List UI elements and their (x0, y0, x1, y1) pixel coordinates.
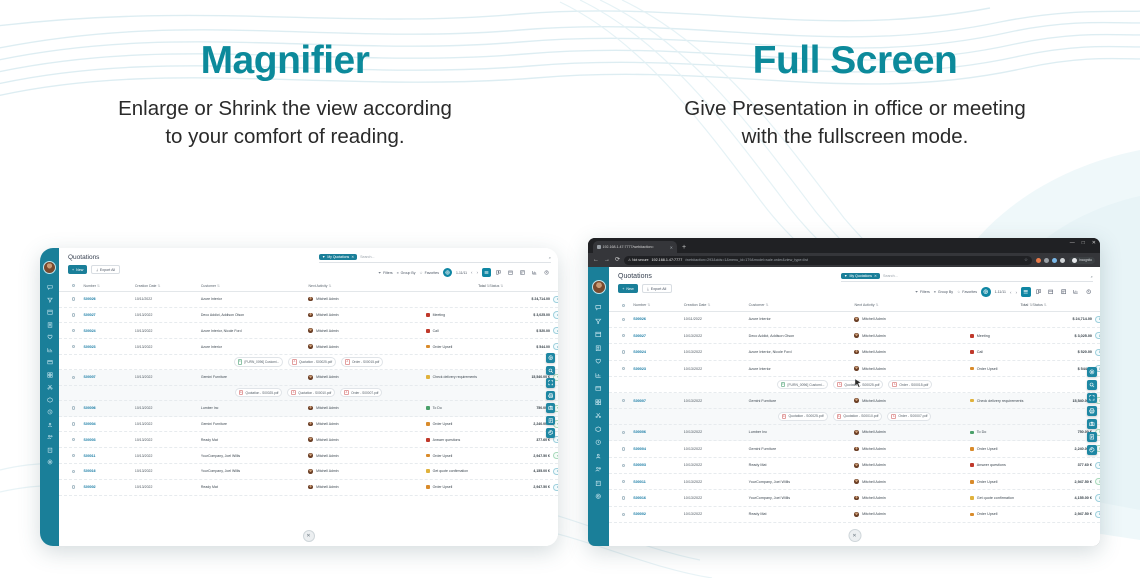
row-checkbox[interactable] (614, 513, 633, 516)
extension-orange-icon[interactable] (1036, 258, 1041, 263)
sidebar-item-settings-icon[interactable] (595, 493, 602, 501)
favorites-dropdown[interactable]: ☆ Favorites (419, 271, 439, 275)
column-header-total[interactable]: Total ⇅ (426, 284, 490, 288)
sidebar-item-messages-icon[interactable] (595, 304, 602, 312)
row-number[interactable]: S00007 (84, 375, 135, 379)
activity-view-button[interactable] (542, 268, 551, 277)
row-status: Quotation (553, 327, 558, 334)
sidebar-icon-list-browser[interactable] (595, 304, 602, 501)
checkbox-icon[interactable] (622, 334, 625, 337)
row-number[interactable]: S00002 (633, 512, 684, 516)
pivot-view-button[interactable] (518, 268, 527, 277)
close-window-button[interactable]: ✕ (1092, 240, 1096, 247)
pdf-file-icon: A (837, 382, 841, 387)
sort-caret-icon[interactable]: ⇅ (765, 303, 769, 307)
table-row[interactable]: S0002310/13/2022Azure InteriorMitchell A… (609, 361, 1100, 377)
checkbox-icon[interactable] (622, 431, 625, 434)
checkbox-icon[interactable] (72, 470, 75, 473)
close-icon[interactable]: ✕ (670, 245, 673, 250)
table-row[interactable]: S0001110/13/2022YourCompany, Joel Willis… (59, 448, 558, 464)
settings-button[interactable] (981, 287, 991, 297)
search-icon[interactable]: ⌕ (1091, 274, 1093, 279)
attachment-chip[interactable]: AOrder - S00015.pdf (888, 380, 932, 389)
row-number[interactable]: S00006 (84, 406, 135, 410)
sort-caret-icon[interactable]: ⇅ (216, 284, 220, 288)
browser-tab-title: 192.168.1.47:7777/web#action= (603, 245, 654, 249)
attachment-chip[interactable]: AQuotation - S00025.pdf (288, 357, 336, 366)
row-checkbox[interactable] (614, 464, 633, 467)
select-all-checkbox[interactable] (64, 284, 84, 287)
table-row[interactable]: S0002410/13/2022Azure Interior, Nicole F… (59, 323, 558, 339)
address-bar[interactable]: ⚠ Not secure 192.168.1.47:7777/web#actio… (624, 256, 1032, 265)
browser-extensions[interactable] (1036, 258, 1065, 263)
attachment-chip[interactable]: AQuotation - S00010.pdf (833, 412, 883, 421)
table-row[interactable]: S0000710/13/2022Gemini FurnitureMitchell… (59, 370, 558, 386)
row-checkbox[interactable] (614, 334, 633, 337)
sidebar-item-messages-icon[interactable] (47, 284, 53, 291)
row-salesperson-label: Mitchell Admin (316, 329, 339, 333)
zoom-reset-button[interactable] (1087, 367, 1097, 377)
column-header-total[interactable]: Total ⇅ (970, 303, 1033, 307)
attachment-label: Quotation - S00025.pdf (299, 360, 332, 364)
sidebar-item-person-icon[interactable] (595, 453, 602, 461)
collapse-fab[interactable]: ✕ (303, 530, 315, 542)
graph-view-button[interactable] (530, 268, 539, 277)
call-icon (970, 350, 974, 354)
sidebar-item-chart-icon[interactable] (595, 372, 602, 380)
row-checkbox[interactable] (614, 447, 633, 450)
column-header-label[interactable]: Status (1032, 303, 1042, 307)
row-total: $ 520.00 (489, 329, 553, 333)
column-header-next-activity[interactable]: Next Activity ⇅ (854, 303, 969, 307)
row-number[interactable]: S00016 (84, 469, 135, 473)
search-input[interactable]: Search... (883, 274, 898, 278)
pagination-next-button[interactable]: › (1015, 290, 1017, 295)
row-checkbox[interactable] (64, 297, 84, 300)
row-number[interactable]: S00023 (84, 345, 135, 349)
checkbox-icon[interactable] (72, 284, 75, 287)
checkbox-icon[interactable] (622, 480, 625, 483)
sort-caret-icon[interactable]: ⇅ (707, 303, 711, 307)
checkbox-icon[interactable] (72, 376, 75, 379)
funnel-icon: ⏷ (378, 271, 381, 275)
column-header-label[interactable]: Next Activity (308, 284, 327, 288)
sidebar-item-clock-icon[interactable] (47, 409, 53, 416)
sort-caret-icon[interactable]: ⇅ (485, 284, 489, 288)
export-all-button[interactable]: ⤓ Export All (91, 265, 120, 274)
row-creation-date: 10/11/2022 (135, 297, 201, 301)
select-all-checkbox[interactable] (614, 304, 633, 307)
share-icon[interactable] (1060, 258, 1065, 263)
maximize-button[interactable]: □ (1082, 240, 1085, 247)
row-checkbox[interactable] (614, 318, 633, 321)
checkbox-icon[interactable] (622, 367, 625, 370)
row-checkbox[interactable] (614, 431, 633, 434)
browser-nav-buttons[interactable]: ← → ⟳ (593, 256, 620, 264)
column-header-label[interactable]: Customer (749, 303, 765, 307)
close-icon[interactable]: ✕ (351, 255, 354, 259)
row-number[interactable]: S00023 (633, 367, 684, 371)
avatar[interactable] (43, 261, 56, 274)
attachment-chip[interactable]: AQuotation - S00025.pdf (235, 388, 283, 397)
tablet-mockup: Quotations + New ⤓ Export All (40, 248, 558, 546)
print-button[interactable] (1087, 406, 1097, 416)
group-by-dropdown[interactable]: ≡ Group By (397, 271, 416, 275)
table-row[interactable]: S0001110/13/2022YourCompany, Joel Willis… (609, 474, 1100, 490)
group-by-dropdown[interactable]: ≡ Group By (934, 290, 953, 294)
sidebar-item-box-icon[interactable] (595, 426, 602, 434)
page-heading-browser: Quotations (618, 273, 841, 280)
search-bar[interactable]: ▼ My Quotations ✕ Search... ⌕ (319, 254, 551, 263)
app-sidebar[interactable] (40, 248, 59, 546)
avatar (854, 463, 859, 468)
row-number[interactable]: S00026 (633, 317, 684, 321)
feature-description: Enlarge or Shrink the view according to … (0, 95, 570, 151)
column-header-status[interactable]: Status ⇅ (489, 284, 553, 288)
column-header-label[interactable]: Customer (201, 284, 216, 288)
magnifier-button[interactable] (1087, 380, 1097, 390)
table-row[interactable]: S0000610/13/2022Lumber IncMitchell Admin… (609, 425, 1100, 441)
search-bar-browser[interactable]: ▼ My Quotations ✕ Search... ⌕ (841, 273, 1093, 282)
upsell-icon (426, 422, 430, 426)
row-number[interactable]: S00002 (84, 485, 135, 489)
sidebar-item-filter-icon[interactable] (595, 318, 602, 326)
row-creation-date: 10/13/2022 (135, 313, 201, 317)
column-header-customer[interactable]: Customer ⇅ (201, 284, 309, 288)
sidebar-icon-list[interactable] (47, 284, 53, 466)
avatar (308, 375, 313, 380)
back-button[interactable]: ← (593, 256, 599, 264)
row-status: Quotation (553, 484, 558, 491)
sort-caret-icon[interactable]: ⇅ (1028, 303, 1032, 307)
row-checkbox[interactable] (64, 313, 84, 316)
not-secure-badge[interactable]: ⚠ Not secure (628, 258, 648, 262)
column-header-label[interactable]: Creation Date (135, 284, 157, 288)
row-next-activity: Meeting (970, 334, 1033, 338)
attachment-chip[interactable]: AQuotation - S00025.pdf (778, 412, 828, 421)
row-number[interactable]: S00004 (84, 422, 135, 426)
row-number[interactable]: S00003 (633, 463, 684, 467)
attachment-chip[interactable]: AQuotation - S00010.pdf (287, 388, 335, 397)
row-number[interactable]: S00011 (633, 480, 684, 484)
color-button[interactable] (546, 428, 556, 438)
row-status: Quotation (553, 296, 558, 303)
row-number[interactable]: S00024 (84, 329, 135, 333)
row-checkbox[interactable] (64, 406, 84, 409)
extension-grey-icon[interactable] (1044, 258, 1049, 263)
sidebar-item-chart-icon[interactable] (47, 347, 53, 354)
table-row[interactable]: S0002610/11/2022Azure InteriorMitchell A… (59, 292, 558, 308)
checkbox-icon[interactable] (622, 464, 625, 467)
sidebar-item-group-icon[interactable] (595, 466, 602, 474)
checkbox-icon[interactable] (622, 447, 625, 450)
export-all-label: Export All (651, 287, 667, 291)
sort-caret-icon[interactable]: ⇅ (646, 303, 650, 307)
attachment-row: AQuotation - S00025.pdfAQuotation - S000… (59, 386, 558, 401)
column-header-creation-date[interactable]: Creation Date ⇅ (135, 284, 201, 288)
table-row[interactable]: S0000710/13/2022Gemini FurnitureMitchell… (609, 393, 1100, 409)
feature-description2-line1: Give Presentation in office or meeting (570, 95, 1140, 123)
new-tab-button[interactable]: + (682, 243, 686, 253)
sidebar-item-scissors-icon[interactable] (47, 384, 53, 391)
list-view-button[interactable] (1021, 287, 1031, 297)
filters-dropdown[interactable]: ⏷ Filters (915, 290, 930, 294)
row-checkbox[interactable] (614, 350, 633, 353)
table-row[interactable]: S0000210/13/2022Ready MatMitchell AdminO… (59, 480, 558, 496)
fullscreen-button[interactable] (1087, 393, 1097, 403)
row-status: Sales Order (553, 452, 558, 459)
settings-button[interactable] (443, 268, 452, 277)
status-badge: Quotation (553, 296, 558, 303)
checkbox-icon[interactable] (72, 438, 75, 441)
row-salesperson-label: Mitchell Admin (862, 512, 886, 516)
column-header-label[interactable]: Number (633, 303, 646, 307)
checkbox-icon[interactable] (622, 318, 625, 321)
table-row[interactable]: S0002610/11/2022Azure InteriorMitchell A… (609, 312, 1100, 328)
attachment-chip[interactable]: AOrder - S00007.pdf (340, 388, 382, 397)
magnifier-button[interactable] (546, 366, 556, 376)
search-facet-my-quotations[interactable]: ▼ My Quotations ✕ (841, 273, 880, 279)
row-number[interactable]: S00024 (633, 350, 684, 354)
sidebar-item-clock-icon[interactable] (595, 439, 602, 447)
row-next-activity-label: Call (977, 350, 983, 354)
calendar-view-button[interactable] (1046, 287, 1056, 297)
row-salesperson: Mitchell Admin (854, 366, 969, 371)
table-row[interactable]: S0000310/13/2022Ready MatMitchell AdminA… (59, 432, 558, 448)
row-next-activity: Order Upsell (970, 512, 1033, 516)
activity-view-button[interactable] (1084, 287, 1094, 297)
sidebar-item-contacts-icon[interactable] (595, 345, 602, 353)
row-checkbox[interactable] (614, 399, 633, 402)
row-next-activity: Order Upsell (426, 422, 490, 426)
row-creation-date: 10/13/2022 (684, 512, 749, 516)
filters-dropdown[interactable]: ⏷ Filters (378, 271, 392, 275)
row-status: Quotation Sent (553, 468, 558, 475)
row-number[interactable]: S00027 (633, 334, 684, 338)
sort-caret-icon[interactable]: ⇅ (875, 303, 879, 307)
row-checkbox[interactable] (64, 485, 84, 488)
row-total: 4,155.00 € (489, 469, 553, 473)
pagination-prev-button[interactable]: ‹ (1010, 290, 1012, 295)
kanban-view-button[interactable] (1034, 287, 1044, 297)
fullscreen-button[interactable] (546, 378, 556, 388)
sidebar-item-person-icon[interactable] (47, 422, 53, 429)
row-customer: YourCompany, Joel Willis (201, 454, 309, 458)
list-view-button[interactable] (482, 268, 491, 277)
row-checkbox[interactable] (64, 438, 84, 441)
graph-view-button[interactable] (1071, 287, 1081, 297)
attachment-chip[interactable]: AOrder - S00007.pdf (887, 412, 931, 421)
attachment-chip[interactable]: X[FURN_0096] Customi... (234, 357, 284, 366)
screenshot-button[interactable] (1087, 419, 1097, 429)
row-next-activity: To Do (970, 430, 1033, 434)
collapse-fab-browser[interactable]: ✕ (848, 529, 861, 542)
sort-caret-icon[interactable]: ⇅ (499, 284, 503, 288)
table-header-row: Number ⇅Creation Date ⇅Customer ⇅Next Ac… (609, 300, 1100, 312)
table-row[interactable]: S0002310/13/2022Azure InteriorMitchell A… (59, 339, 558, 355)
row-checkbox[interactable] (64, 329, 84, 332)
sidebar-item-box-icon[interactable] (47, 397, 53, 404)
search-icon[interactable]: ⌕ (549, 255, 551, 260)
avatar[interactable] (592, 280, 606, 294)
table-row[interactable]: S0000410/13/2022Gemini FurnitureMitchell… (59, 417, 558, 433)
favorites-dropdown[interactable]: ☆ Favorites (957, 290, 977, 294)
close-icon[interactable]: ✕ (874, 274, 877, 278)
sidebar-item-archive-icon[interactable] (595, 385, 602, 393)
checkbox-icon[interactable] (72, 406, 75, 409)
table-row[interactable]: S0002710/13/2022Deco Addict, Addison Ols… (59, 308, 558, 324)
incognito-icon (1072, 258, 1077, 263)
pivot-view-button[interactable] (1059, 287, 1069, 297)
window-controls[interactable]: — □ ✕ (1070, 240, 1096, 247)
float-toolbar[interactable] (546, 353, 556, 438)
row-number[interactable]: S00006 (633, 430, 684, 434)
table-row[interactable]: S0000310/13/2022Ready MatMitchell AdminA… (609, 458, 1100, 474)
checkbox-icon[interactable] (72, 345, 75, 348)
gear-icon (548, 355, 554, 361)
column-header-customer[interactable]: Customer ⇅ (749, 303, 855, 307)
search-input[interactable]: Search... (360, 255, 374, 259)
column-header-label[interactable]: Number (84, 284, 96, 288)
checkbox-icon[interactable] (622, 399, 625, 402)
forward-button[interactable]: → (604, 256, 610, 264)
zoom-reset-button[interactable] (546, 353, 556, 363)
control-panel-left: Quotations + New ⤓ Export All (68, 254, 319, 274)
checkbox-icon[interactable] (622, 350, 625, 353)
sort-caret-icon[interactable]: ⇅ (1043, 303, 1047, 307)
row-checkbox[interactable] (64, 422, 84, 425)
checkbox-icon[interactable] (622, 513, 625, 516)
checkbox-icon[interactable] (72, 329, 75, 332)
new-button[interactable]: + New (68, 265, 87, 274)
table-row[interactable]: S0000610/13/2022Lumber IncMitchell Admin… (59, 401, 558, 417)
browser-tab[interactable]: 192.168.1.47:7777/web#action= ✕ (593, 241, 677, 253)
minimize-button[interactable]: — (1070, 240, 1075, 247)
sidebar-item-contacts-icon[interactable] (47, 322, 53, 329)
float-toolbar-browser[interactable] (1087, 367, 1097, 455)
print-button[interactable] (546, 391, 556, 401)
note-icon (548, 418, 554, 424)
table-row[interactable]: S0000210/13/2022Ready MatMitchell AdminO… (609, 507, 1100, 523)
column-header-label[interactable]: Creation Date (684, 303, 707, 307)
row-checkbox[interactable] (614, 496, 633, 499)
column-header-next-activity[interactable]: Next Activity ⇅ (308, 284, 425, 288)
table-row[interactable]: S0000410/13/2022Gemini FurnitureMitchell… (609, 441, 1100, 457)
note-button[interactable] (546, 416, 556, 426)
checkbox-icon[interactable] (72, 422, 75, 425)
row-next-activity: Order Upsell (970, 447, 1033, 451)
sidebar-item-settings-icon[interactable] (47, 459, 53, 466)
column-header-label[interactable]: Next Activity (854, 303, 874, 307)
column-header-status[interactable]: Status ⇅ (1032, 303, 1095, 307)
sidebar-item-building-icon[interactable] (595, 480, 602, 488)
control-panel-left-browser: Quotations + New ⤓ Export All (618, 273, 841, 293)
row-customer: Gemini Furniture (749, 447, 855, 451)
note-button[interactable] (1087, 432, 1097, 442)
puzzle-icon[interactable] (1052, 258, 1057, 263)
sidebar-item-filter-icon[interactable] (47, 297, 53, 304)
row-number[interactable]: S00004 (633, 447, 684, 451)
row-number[interactable]: S00027 (84, 313, 135, 317)
app-sidebar-browser[interactable] (588, 267, 609, 546)
sort-caret-icon[interactable]: ⇅ (96, 284, 100, 288)
kanban-view-button[interactable] (494, 268, 503, 277)
row-next-activity-label: Order Upsell (977, 512, 998, 516)
calendar-view-button[interactable] (506, 268, 515, 277)
sort-caret-icon[interactable]: ⇅ (328, 284, 332, 288)
row-checkbox[interactable] (614, 480, 633, 483)
search-facet-my-quotations[interactable]: ▼ My Quotations ✕ (319, 254, 357, 260)
row-number[interactable]: S00007 (633, 399, 684, 403)
table-row[interactable]: S0002710/13/2022Deco Addict, Addison Ols… (609, 328, 1100, 344)
row-checkbox[interactable] (64, 345, 84, 348)
sidebar-item-calendar-icon[interactable] (595, 331, 602, 339)
pagination-next-button[interactable]: › (477, 270, 479, 275)
row-number[interactable]: S00003 (84, 438, 135, 442)
row-number[interactable]: S00026 (84, 297, 135, 301)
row-number[interactable]: S00011 (84, 454, 135, 458)
row-checkbox[interactable] (64, 470, 84, 473)
filters-label: Filters (920, 290, 930, 294)
table-row[interactable]: S0001610/13/2022YourCompany, Joel Willis… (59, 464, 558, 480)
sidebar-item-calendar-icon[interactable] (47, 309, 53, 316)
checkbox-icon[interactable] (72, 485, 75, 488)
sort-caret-icon[interactable]: ⇅ (157, 284, 161, 288)
attachment-chip[interactable]: X[FURN_0096] Customi... (777, 380, 829, 389)
sidebar-item-scissors-icon[interactable] (595, 412, 602, 420)
checkbox-icon[interactable] (622, 304, 625, 307)
sidebar-item-archive-icon[interactable] (47, 359, 53, 366)
column-header-label[interactable]: Status (489, 284, 499, 288)
row-customer: Deco Addict, Addison Olson (749, 334, 855, 338)
column-header-number[interactable]: Number ⇅ (84, 284, 135, 288)
sidebar-item-grid-icon[interactable] (47, 372, 53, 379)
sidebar-item-heart-icon[interactable] (595, 358, 602, 366)
export-all-button[interactable]: ⤓ Export All (642, 284, 672, 293)
row-salesperson-label: Mitchell Admin (862, 496, 886, 500)
column-header-number[interactable]: Number ⇅ (633, 303, 684, 307)
row-creation-date: 10/13/2022 (684, 447, 749, 451)
attachment-chip[interactable]: AOrder - S00015.pdf (341, 357, 383, 366)
row-checkbox[interactable] (64, 376, 84, 379)
color-button[interactable] (1087, 445, 1097, 455)
reload-button[interactable]: ⟳ (615, 256, 620, 264)
sidebar-item-group-icon[interactable] (47, 434, 53, 441)
checkbox-icon[interactable] (72, 454, 75, 457)
table-row[interactable]: S0001610/13/2022YourCompany, Joel Willis… (609, 490, 1100, 506)
bookmark-icon[interactable]: ☆ (1024, 257, 1028, 263)
row-number[interactable]: S00016 (633, 496, 684, 500)
row-checkbox[interactable] (614, 367, 633, 370)
sidebar-item-grid-icon[interactable] (595, 399, 602, 407)
row-checkbox[interactable] (64, 454, 84, 457)
favorites-label: Favorites (962, 290, 977, 294)
pagination-prev-button[interactable]: ‹ (471, 270, 473, 275)
incognito-badge[interactable]: Incognito (1069, 257, 1095, 264)
new-button[interactable]: + New (618, 284, 638, 293)
sidebar-item-heart-icon[interactable] (47, 334, 53, 341)
table-row[interactable]: S0002410/13/2022Azure Interior, Nicole F… (609, 344, 1100, 360)
row-next-activity-label: Check delivery requirements (433, 375, 477, 379)
avatar (854, 366, 859, 371)
screenshot-button[interactable] (546, 403, 556, 413)
checkbox-icon[interactable] (72, 313, 75, 316)
column-header-creation-date[interactable]: Creation Date ⇅ (684, 303, 749, 307)
checkbox-icon[interactable] (622, 496, 625, 499)
sidebar-item-building-icon[interactable] (47, 447, 53, 454)
checkbox-icon[interactable] (72, 297, 75, 300)
row-customer: Deco Addict, Addison Olson (201, 313, 309, 317)
